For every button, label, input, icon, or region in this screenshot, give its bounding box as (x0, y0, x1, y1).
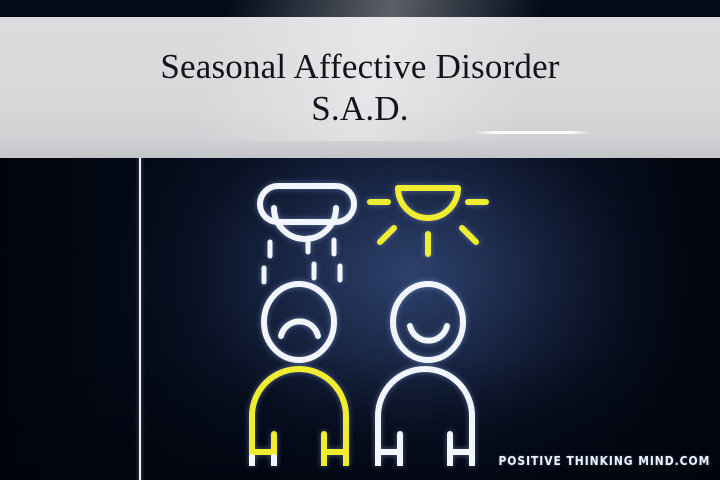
rain-cloud-icon (260, 186, 354, 282)
illustration-sad-vs-happy (236, 176, 506, 466)
frowning-face-icon (264, 284, 334, 360)
header-highlight-streak (474, 131, 592, 134)
poster-canvas: Seasonal Affective Disorder S.A.D. (0, 0, 720, 480)
happy-figure-torso-icon (378, 369, 472, 466)
watermark-text: POSITIVE THINKING MIND.COM (498, 453, 710, 468)
page-title: Seasonal Affective Disorder (160, 47, 559, 87)
page-subtitle-acronym: S.A.D. (311, 89, 408, 129)
top-dark-strip (0, 0, 720, 17)
title-block: Seasonal Affective Disorder S.A.D. (0, 17, 720, 158)
raindrops (264, 238, 340, 282)
sad-figure-torso-icon (252, 369, 346, 466)
sun-icon (370, 188, 486, 254)
smiling-face-icon (393, 284, 463, 360)
